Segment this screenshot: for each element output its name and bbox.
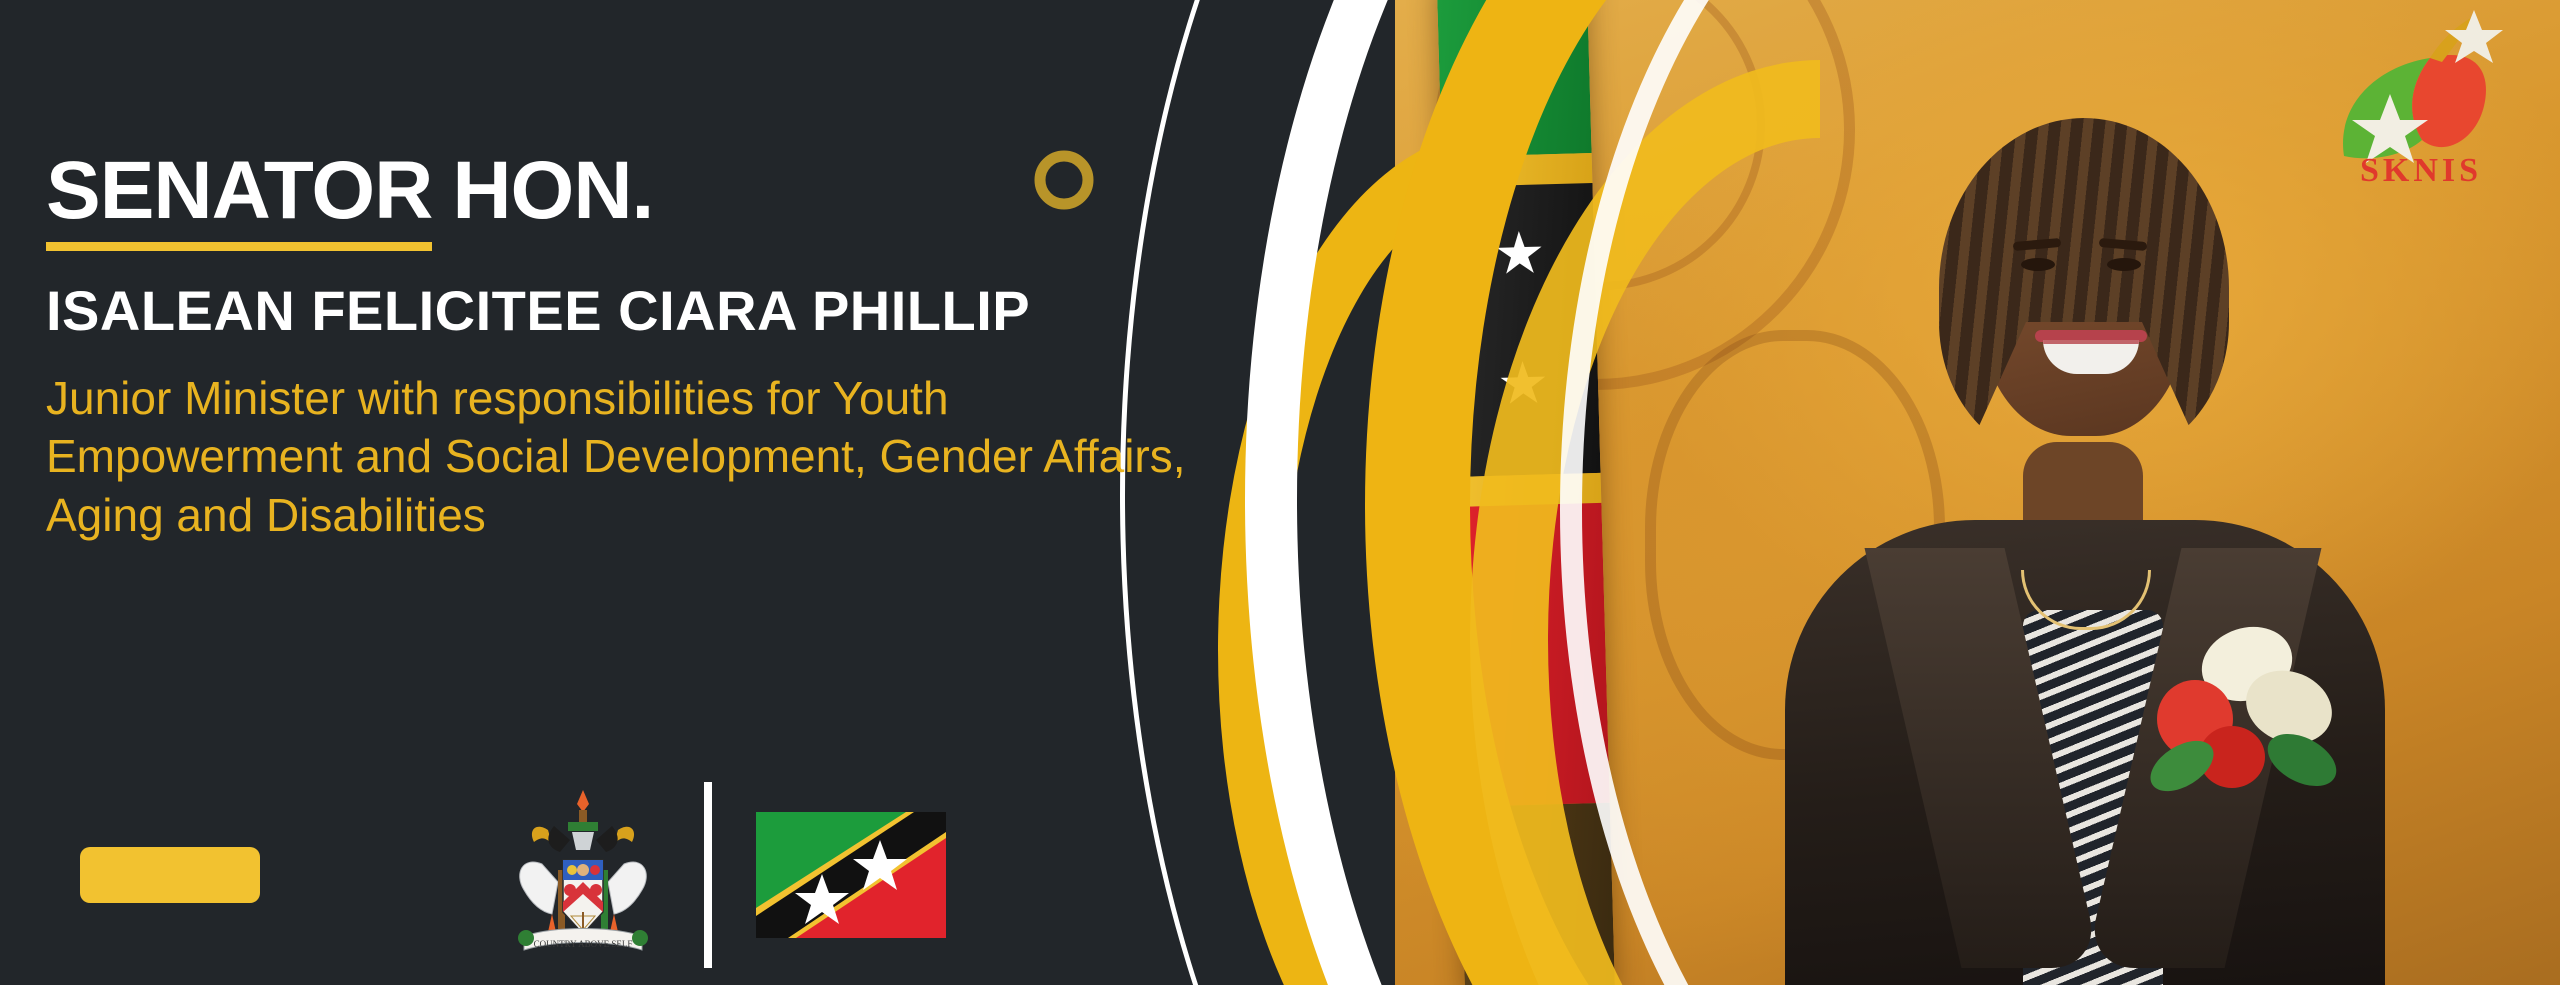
coat-of-arms-saint-kitts-and-nevis: COUNTRY ABOVE SELF (508, 786, 658, 964)
figure-eye-right (2107, 258, 2141, 271)
figure-eye-left (2021, 258, 2055, 271)
floral-corsage (2153, 628, 2343, 813)
minister-role-description: Junior Minister with responsibilities fo… (46, 369, 1206, 544)
flag-saint-kitts-and-nevis (756, 812, 946, 938)
page-title: SENATOR HON. (46, 150, 1346, 251)
logo-star-icon (2445, 10, 2503, 63)
title-senator: SENATOR (46, 150, 432, 251)
logo-red-swoosh (2412, 55, 2486, 147)
sknis-logo: SKNIS (2326, 6, 2516, 196)
vertical-divider (704, 782, 712, 968)
coat-of-arms-motto: COUNTRY ABOVE SELF (534, 939, 633, 949)
insignia-row: COUNTRY ABOVE SELF (80, 780, 946, 970)
minister-name: ISALEAN FELICITEE CIARA PHILLIP (46, 283, 1346, 339)
title-honorific: HON. (452, 150, 653, 232)
minister-profile-banner: ★ ★ (0, 0, 2560, 985)
banner-text-block: SENATOR HON. ISALEAN FELICITEE CIARA PHI… (46, 150, 1346, 544)
gold-accent-chip (80, 847, 260, 903)
sknis-wordmark: SKNIS (2360, 152, 2482, 190)
